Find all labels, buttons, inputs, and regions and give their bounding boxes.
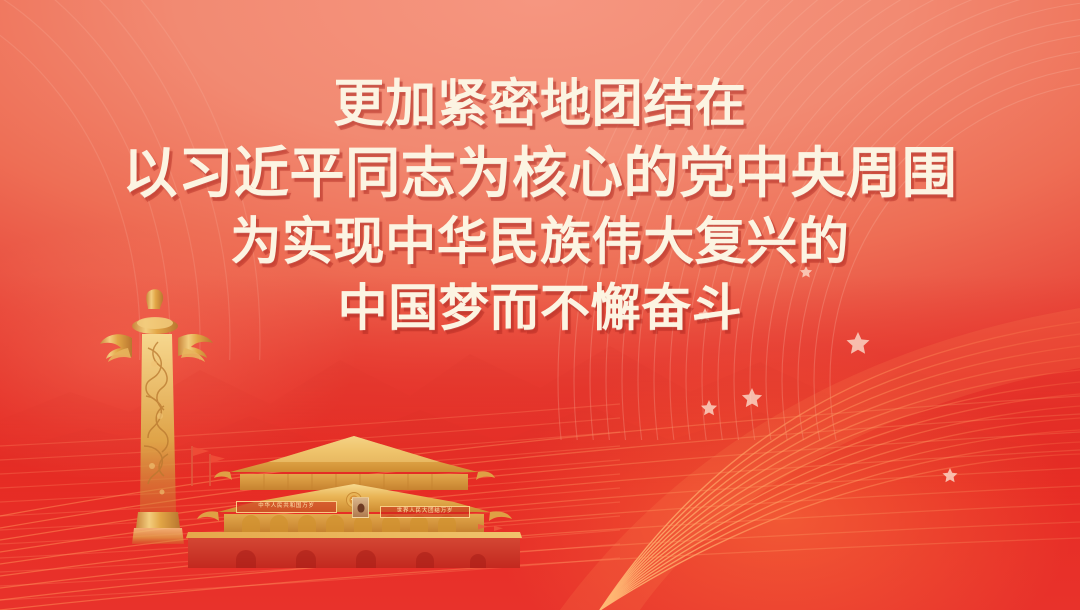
poster-canvas: 更加紧密地团结在 以习近平同志为核心的党中央周围 为实现中华民族伟大复兴的 中国… [0,0,1080,610]
star-icon [698,308,712,321]
star-icon [943,468,958,482]
star-icon [800,266,812,278]
leader-portrait [352,497,369,518]
star-icon [742,388,762,407]
monument-group: 中华人民共和国万岁 世界人民大团结万岁 [0,280,560,610]
star-icon [701,400,717,415]
star-icon [847,332,870,354]
banner-right-slogan: 世界人民大团结万岁 [380,506,470,518]
banner-left-slogan: 中华人民共和国万岁 [236,501,337,513]
